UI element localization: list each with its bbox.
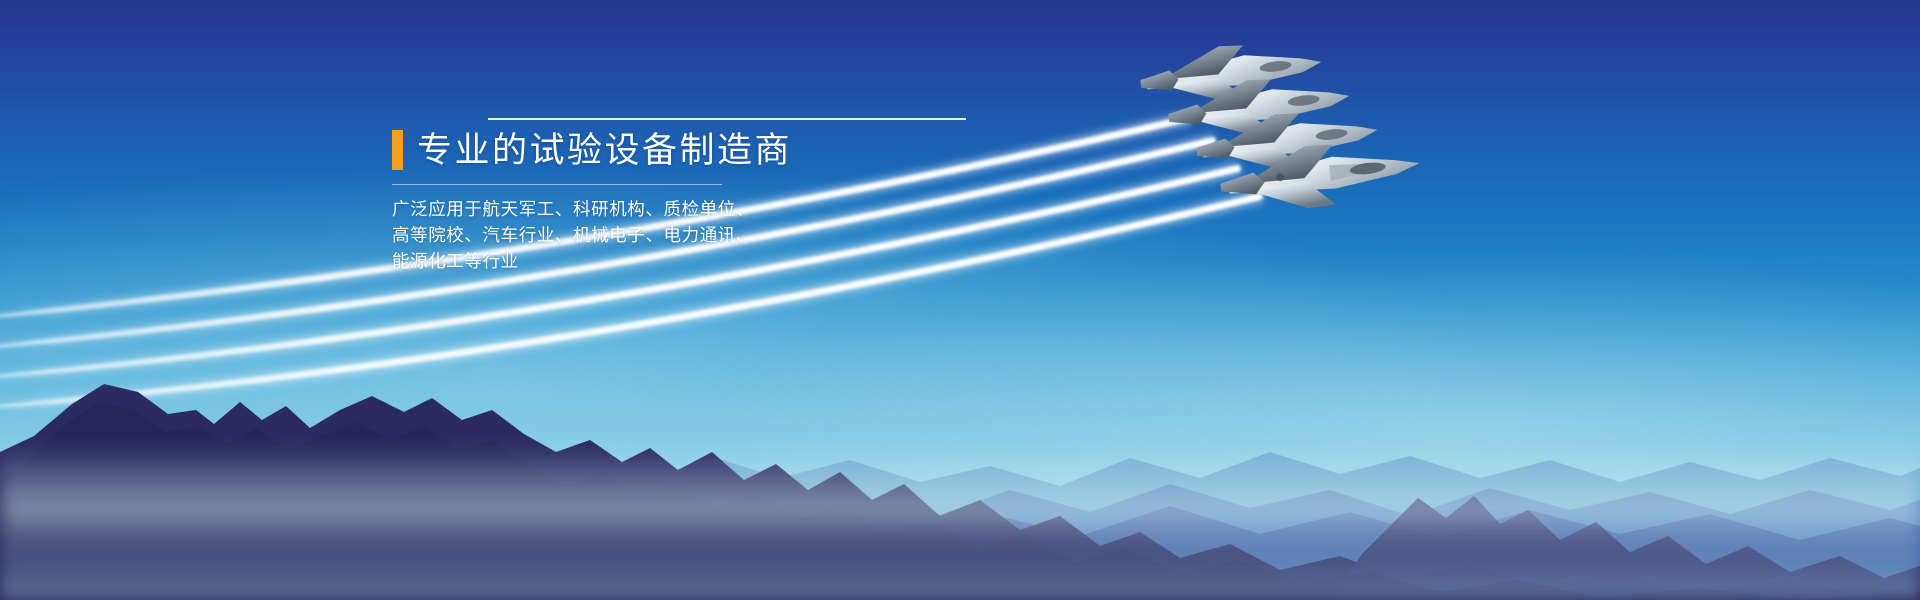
banner-copy: 专业的试验设备制造商 广泛应用于航天军工、科研机构、质检单位、 高等院校、汽车行… xyxy=(392,118,912,274)
banner-subtitle: 广泛应用于航天军工、科研机构、质检单位、 高等院校、汽车行业、机械电子、电力通讯… xyxy=(392,196,912,274)
subtitle-line-1: 广泛应用于航天军工、科研机构、质检单位、 xyxy=(392,196,912,222)
subtitle-line-3: 能源化工等行业 xyxy=(392,248,912,274)
headline-top-rule xyxy=(488,118,966,120)
hero-banner: 专业的试验设备制造商 广泛应用于航天军工、科研机构、质检单位、 高等院校、汽车行… xyxy=(0,0,1920,600)
headline-row: 专业的试验设备制造商 xyxy=(392,130,912,170)
mountain-range-silhouette xyxy=(0,340,1920,600)
jet-formation-icon xyxy=(1115,40,1515,270)
subtitle-line-2: 高等院校、汽车行业、机械电子、电力通讯、 xyxy=(392,222,912,248)
page-title: 专业的试验设备制造商 xyxy=(417,133,792,168)
accent-bar xyxy=(392,130,403,170)
headline-bottom-rule xyxy=(392,184,722,185)
